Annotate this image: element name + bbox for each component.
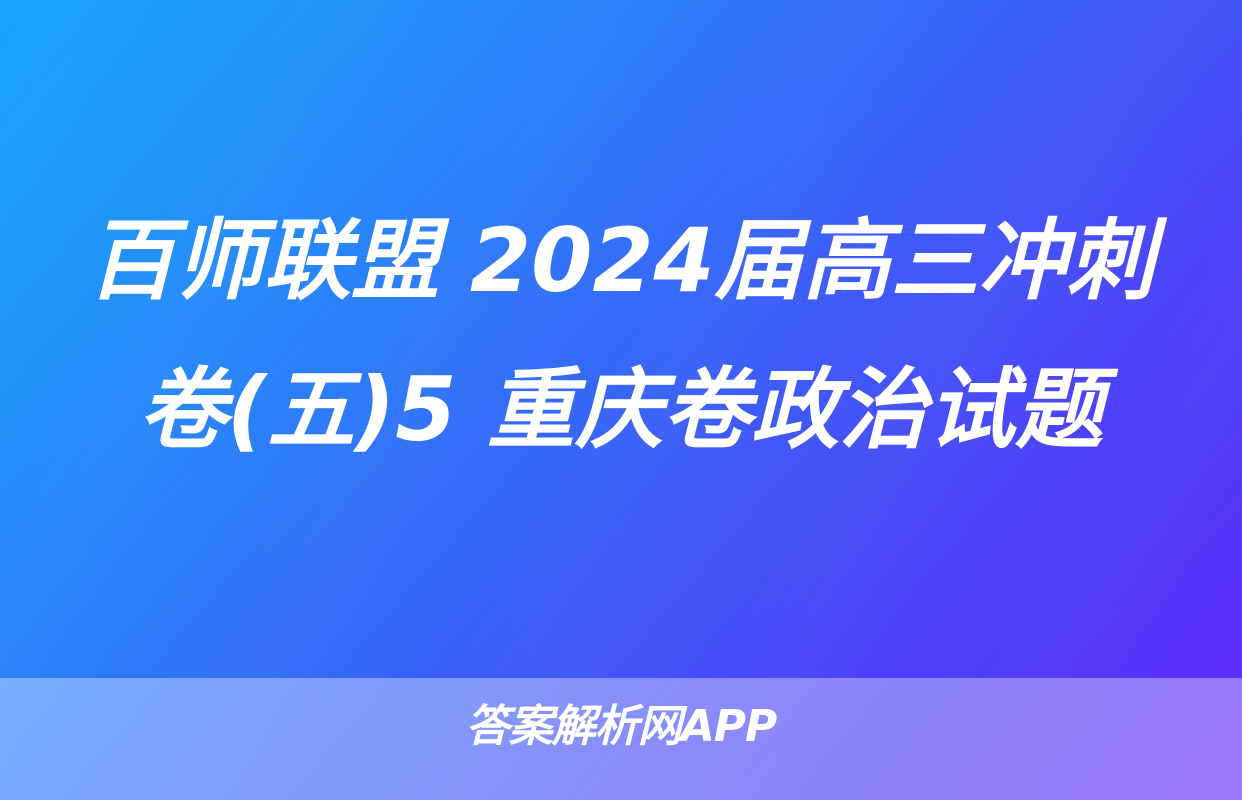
watermark-label: 答案解析网APP xyxy=(466,705,777,749)
watermark-band: 答案解析网APP xyxy=(0,678,1242,800)
page-title: 百师联盟 2024届高三冲刺卷(五)5 重庆卷政治试题 xyxy=(78,186,1164,484)
title-block: 百师联盟 2024届高三冲刺卷(五)5 重庆卷政治试题 xyxy=(78,186,1164,484)
exam-cover-card: 百师联盟 2024届高三冲刺卷(五)5 重庆卷政治试题 答案解析网APP xyxy=(0,0,1242,800)
